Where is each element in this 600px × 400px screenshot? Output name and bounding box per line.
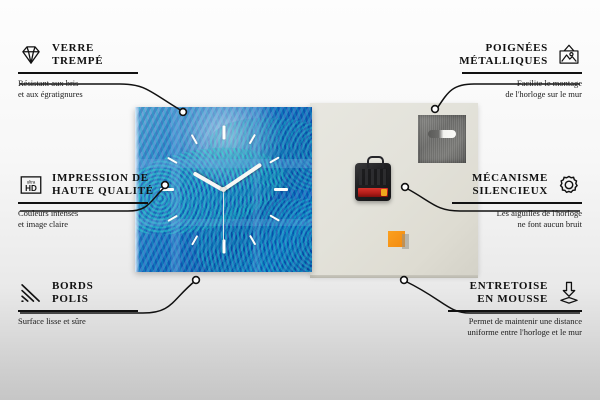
callout-description: Résistant aux bris et aux égratignures (18, 78, 158, 100)
gear-icon (556, 172, 582, 198)
callout-rule (18, 202, 148, 204)
callout-title: BORDS POLIS (52, 280, 93, 306)
callout-header: ultra HD IMPRESSION DE HAUTE QUALITÉ (18, 172, 168, 198)
callout-rule (18, 72, 138, 74)
callout-header: VERRE TREMPÉ (18, 42, 158, 68)
callout-title: VERRE TREMPÉ (52, 42, 103, 68)
connector-dot-mecanisme (402, 184, 409, 191)
diamond-icon (18, 42, 44, 68)
connector-dot-bords-polis (193, 277, 200, 284)
connector-dot-entretoise (401, 277, 408, 284)
callout-entretoise-en-mousse: ENTRETOISE EN MOUSSE Permet de maintenir… (428, 280, 582, 338)
callout-mecanisme-silencieux: MÉCANISME SILENCIEUX Les aiguilles de l'… (432, 172, 582, 230)
ultra-hd-icon: ultra HD (18, 172, 44, 198)
callout-rule (452, 202, 582, 204)
callout-header: POIGNÉES MÉTALLIQUES (442, 42, 582, 68)
callout-header: ENTRETOISE EN MOUSSE (428, 280, 582, 306)
callout-poignees-metalliques: POIGNÉES MÉTALLIQUES Facilite le montage… (442, 42, 582, 100)
callout-description: Surface lisse et sûre (18, 316, 158, 327)
connector-dot-poignees (432, 106, 439, 113)
callout-rule (448, 310, 582, 312)
callout-impression-haute-qualite: ultra HD IMPRESSION DE HAUTE QUALITÉ Cou… (18, 172, 168, 230)
callout-title: ENTRETOISE EN MOUSSE (470, 280, 548, 306)
connector-dot-verre-trempe (180, 109, 187, 116)
svg-text:HD: HD (25, 184, 37, 193)
callout-header: BORDS POLIS (18, 280, 158, 306)
callout-title: POIGNÉES MÉTALLIQUES (459, 42, 548, 68)
callout-description: Permet de maintenir une distance uniform… (428, 316, 582, 338)
callout-title: MÉCANISME SILENCIEUX (472, 172, 548, 198)
callout-title: IMPRESSION DE HAUTE QUALITÉ (52, 172, 154, 198)
foam-spacer-arrow-icon (556, 280, 582, 306)
infographic-stage: VERRE TREMPÉ Résistant aux bris et aux é… (0, 0, 600, 400)
callout-rule (462, 72, 582, 74)
picture-frame-hanger-icon (556, 42, 582, 68)
polished-edges-icon (18, 280, 44, 306)
callout-description: Facilite le montage de l'horloge sur le … (442, 78, 582, 100)
callout-description: Les aiguilles de l'horloge ne font aucun… (432, 208, 582, 230)
callout-bords-polis: BORDS POLIS Surface lisse et sûre (18, 280, 158, 327)
callout-header: MÉCANISME SILENCIEUX (432, 172, 582, 198)
callout-description: Couleurs intenses et image claire (18, 208, 168, 230)
callout-verre-trempe: VERRE TREMPÉ Résistant aux bris et aux é… (18, 42, 158, 100)
callout-rule (18, 310, 138, 312)
